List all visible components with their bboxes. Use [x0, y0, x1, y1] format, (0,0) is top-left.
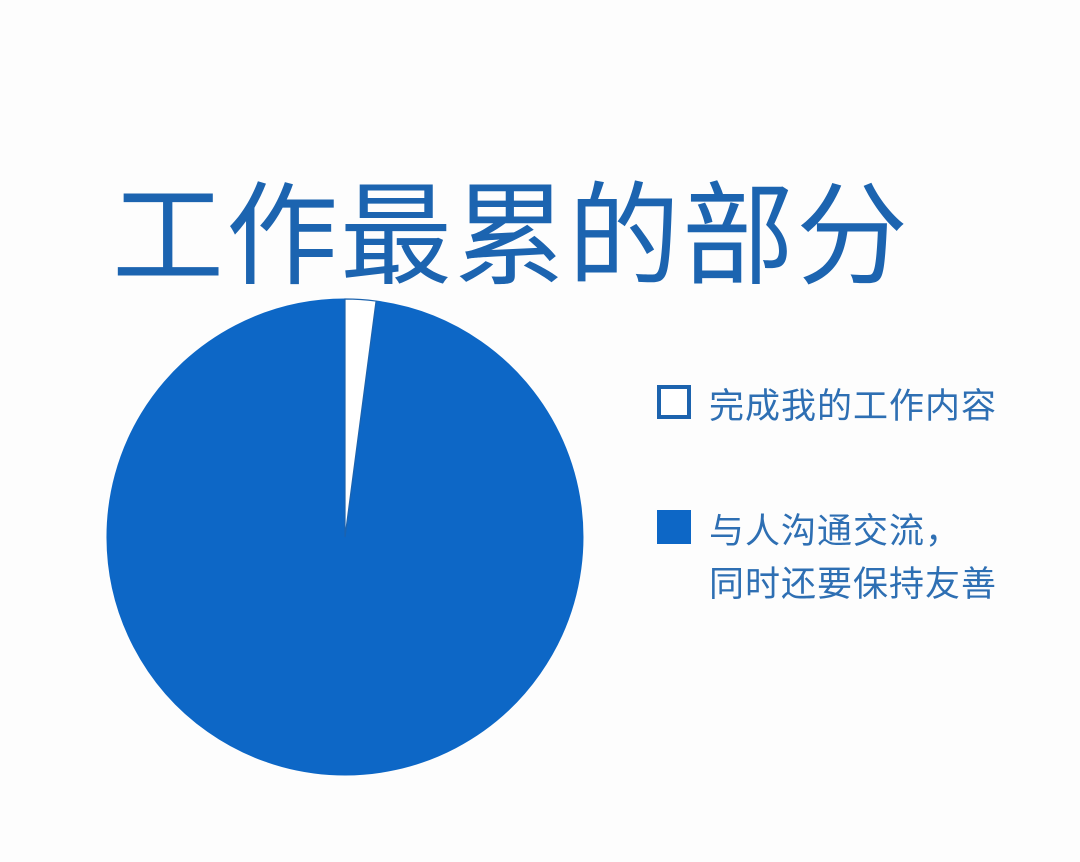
page-title: 工作最累的部分 — [112, 177, 910, 298]
legend-label-own-work: 完成我的工作内容 — [709, 380, 997, 433]
legend-label-line: 与人沟通交流， — [709, 505, 997, 558]
chart-legend: 完成我的工作内容 与人沟通交流， 同时还要保持友善 — [657, 380, 1057, 612]
legend-item-own-work[interactable]: 完成我的工作内容 — [657, 380, 1057, 433]
legend-label-communication: 与人沟通交流， 同时还要保持友善 — [709, 505, 997, 611]
legend-label-line: 完成我的工作内容 — [709, 380, 997, 433]
legend-label-line: 同时还要保持友善 — [709, 558, 997, 611]
legend-swatch-filled-icon — [657, 510, 691, 544]
slide-canvas: 工作最累的部分 完成我的工作内容 与人沟通交流， 同时还要保持友善 — [0, 0, 1080, 862]
legend-item-communication[interactable]: 与人沟通交流， 同时还要保持友善 — [657, 505, 1057, 611]
pie-chart-svg — [107, 299, 583, 775]
pie-chart — [107, 299, 583, 775]
legend-swatch-outline-icon — [657, 385, 691, 419]
